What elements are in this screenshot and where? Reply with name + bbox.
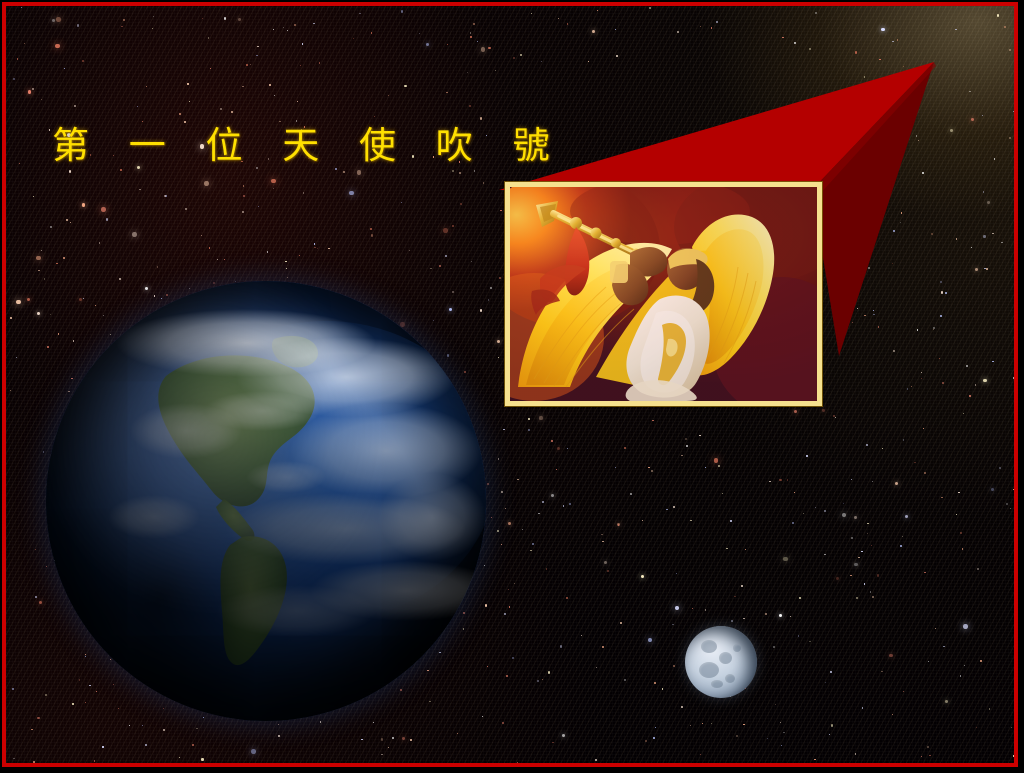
moon-sphere [685,626,757,698]
moon-crater [701,640,717,653]
moon-crater [711,680,723,688]
earth-shading [46,281,486,721]
earth-globe [46,281,486,721]
presentation-slide: 第 一 位 天 使 吹 號 [0,0,1024,773]
angel-picture-frame[interactable] [505,182,822,406]
page-title: 第 一 位 天 使 吹 號 [52,126,564,166]
moon-crater [733,644,741,652]
moon-crater [725,674,735,683]
moon-crater [719,652,732,664]
angel-picture [510,187,817,401]
angel-illustration [510,187,817,401]
moon-crater [699,662,719,678]
